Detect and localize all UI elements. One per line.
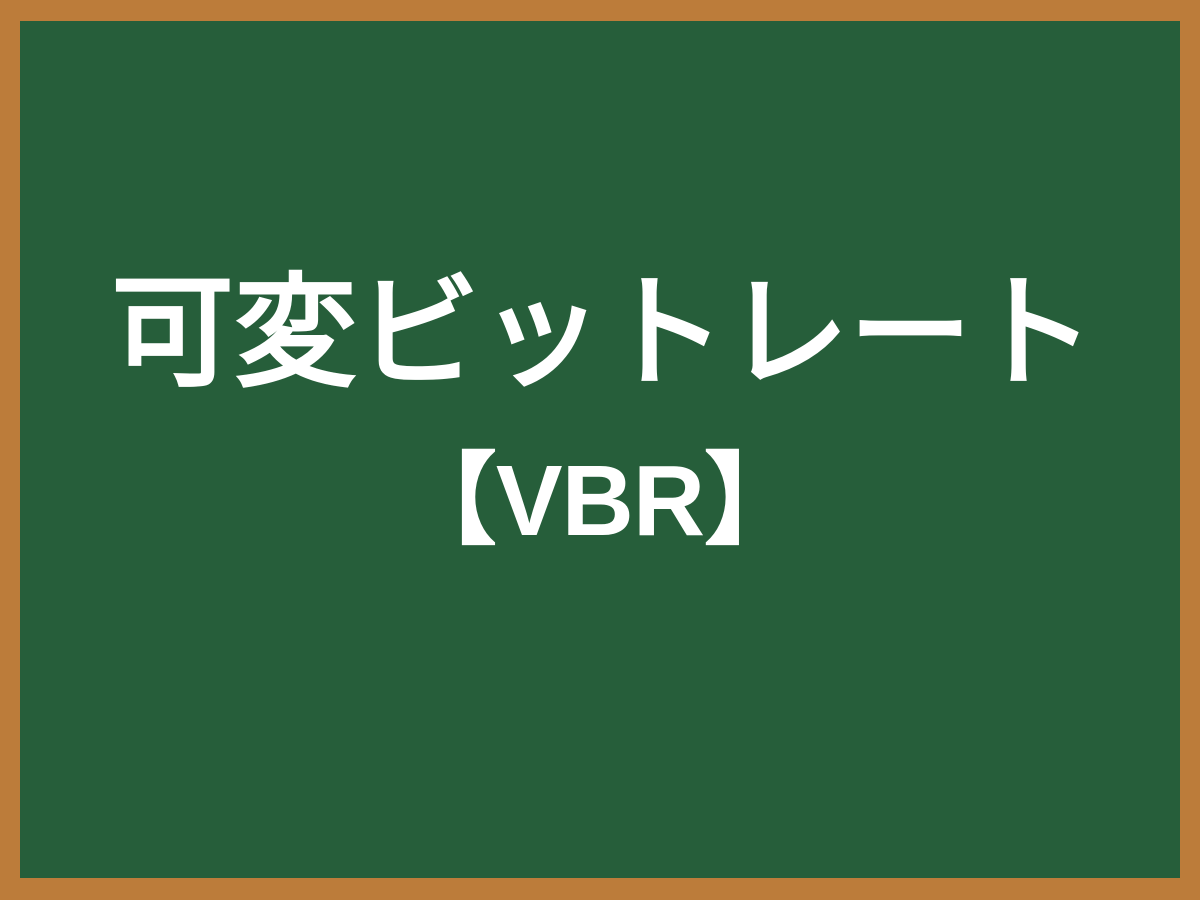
headline-secondary-abbreviation: 【VBR】	[20, 451, 1180, 551]
headline-primary: 可変ビットレート	[17, 272, 1183, 395]
green-board-panel: 可変ビットレート 【VBR】	[20, 21, 1180, 878]
poster-canvas: 可変ビットレート 【VBR】	[0, 0, 1200, 900]
title-block: 可変ビットレート 【VBR】	[20, 272, 1180, 551]
